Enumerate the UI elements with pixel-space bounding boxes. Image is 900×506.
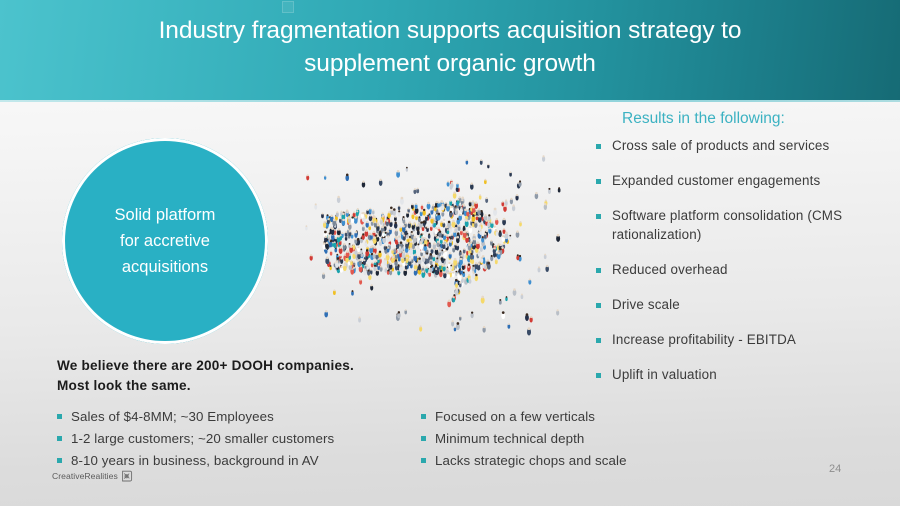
list-item: Drive scale [596, 296, 892, 315]
bullet-square-icon [596, 338, 601, 343]
bullet-square-icon [596, 303, 601, 308]
list-item: Sales of $4-8MM; ~30 Employees [57, 407, 387, 427]
list-item-label: Minimum technical depth [435, 429, 584, 449]
list-item-label: 8-10 years in business, background in AV [71, 451, 319, 471]
results-heading: Results in the following: [622, 110, 785, 128]
solid-platform-circle: Solid platform for accretive acquisition… [62, 138, 268, 344]
list-item: Expanded customer engagements [596, 172, 892, 191]
slide-canvas: Industry fragmentation supports acquisit… [0, 0, 900, 506]
bottom-left-bullet-list: Sales of $4-8MM; ~30 Employees 1-2 large… [57, 407, 387, 473]
bullet-square-icon [421, 414, 426, 419]
list-item-label: Software platform consolidation (CMS rat… [612, 207, 892, 244]
bullet-square-icon [421, 436, 426, 441]
bullet-square-icon [57, 436, 62, 441]
list-item: Increase profitability - EBITDA [596, 331, 892, 350]
list-item-label: Uplift in valuation [612, 366, 717, 385]
list-item: Reduced overhead [596, 261, 892, 280]
page-number: 24 [829, 463, 841, 475]
list-item: 1-2 large customers; ~20 smaller custome… [57, 429, 387, 449]
bullet-square-icon [596, 179, 601, 184]
header-divider [0, 100, 900, 102]
bullet-square-icon [57, 414, 62, 419]
list-item-label: Expanded customer engagements [612, 172, 820, 191]
list-item: Cross sale of products and services [596, 137, 892, 156]
slide-header-banner: Industry fragmentation supports acquisit… [0, 0, 900, 100]
list-item-label: 1-2 large customers; ~20 smaller custome… [71, 429, 334, 449]
footer-logo: CreativeRealities [52, 470, 133, 482]
bottom-right-bullet-list: Focused on a few verticals Minimum techn… [421, 407, 701, 473]
bullet-square-icon [596, 144, 601, 149]
list-item: Uplift in valuation [596, 366, 892, 385]
list-item-label: Reduced overhead [612, 261, 728, 280]
solid-platform-circle-label: Solid platform for accretive acquisition… [101, 202, 230, 280]
list-item: Focused on a few verticals [421, 407, 701, 427]
list-item-label: Lacks strategic chops and scale [435, 451, 627, 471]
list-item-label: Cross sale of products and services [612, 137, 829, 156]
list-item-label: Increase profitability - EBITDA [612, 331, 796, 350]
list-item: Minimum technical depth [421, 429, 701, 449]
list-item: Lacks strategic chops and scale [421, 451, 701, 471]
list-item: Software platform consolidation (CMS rat… [596, 207, 892, 244]
page-title: Industry fragmentation supports acquisit… [110, 14, 790, 80]
bullet-square-icon [421, 458, 426, 463]
header-artifact-square [282, 1, 294, 13]
list-item: 8-10 years in business, background in AV [57, 451, 387, 471]
crowd-of-people-arrow-icon [300, 152, 566, 338]
results-bullet-list: Cross sale of products and services Expa… [596, 137, 892, 384]
bullet-square-icon [596, 214, 601, 219]
list-item-label: Focused on a few verticals [435, 407, 595, 427]
lead-statement: We believe there are 200+ DOOH companies… [57, 356, 354, 396]
list-item-label: Drive scale [612, 296, 680, 315]
bullet-square-icon [596, 373, 601, 378]
list-item-label: Sales of $4-8MM; ~30 Employees [71, 407, 274, 427]
bullet-square-icon [596, 268, 601, 273]
bullet-square-icon [57, 458, 62, 463]
creative-realities-mark-icon [121, 470, 133, 482]
footer-logo-label: CreativeRealities [52, 471, 118, 481]
